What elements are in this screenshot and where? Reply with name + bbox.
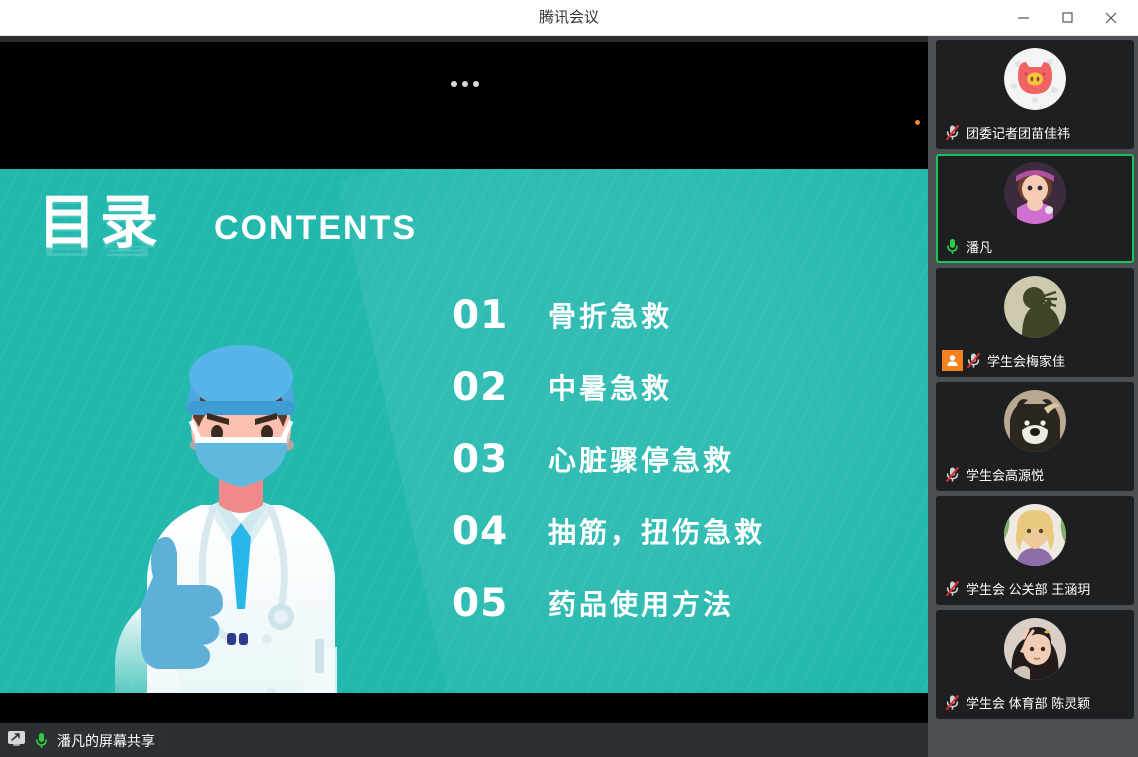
close-icon: [1104, 11, 1118, 25]
toc-item: 04 抽筋，扭伤急救: [452, 495, 765, 567]
window-title-bar: 腾讯会议: [0, 0, 1138, 36]
toc-item-number: 01: [452, 293, 548, 338]
participant-sidebar[interactable]: 团委记者团苗佳祎: [932, 36, 1138, 757]
avatar: [1004, 390, 1066, 452]
close-button[interactable]: [1090, 0, 1132, 35]
shared-screen-content[interactable]: 目录 目录 CONTENTS: [0, 42, 928, 757]
toc-item-number: 03: [452, 437, 548, 482]
participant-tile[interactable]: 学生会 公关部 王涵玥: [936, 496, 1134, 605]
participant-tile-active[interactable]: 潘凡: [936, 154, 1134, 263]
participant-name: 潘凡: [962, 237, 992, 256]
participant-nameplate: 团委记者团苗佳祎: [942, 122, 1077, 143]
minimize-button[interactable]: [1002, 0, 1044, 35]
toc-item-number: 04: [452, 509, 548, 554]
shared-screen-stage: 目录 目录 CONTENTS: [0, 36, 928, 757]
microphone-muted-icon: [942, 464, 962, 485]
slide-heading-en: CONTENTS: [214, 211, 417, 251]
toc-item-label: 心脏骤停急救: [548, 439, 734, 479]
toc-item: 03 心脏骤停急救: [452, 423, 765, 495]
presenter-label-text: 潘凡的屏幕共享: [57, 731, 155, 751]
toc-item: 02 中暑急救: [452, 351, 765, 423]
minimize-icon: [1017, 11, 1030, 24]
avatar: [1004, 504, 1066, 566]
participant-tile[interactable]: 学生会梅家佳: [936, 268, 1134, 377]
toc-item: 01 骨折急救: [452, 279, 765, 351]
participant-tile[interactable]: 学生会高源悦: [936, 382, 1134, 491]
participant-name: 学生会梅家佳: [983, 351, 1065, 370]
microphone-muted-icon: [942, 692, 962, 713]
participant-nameplate: 学生会 公关部 王涵玥: [942, 578, 1097, 599]
toc-item: 05 药品使用方法: [452, 567, 765, 639]
recording-dot-icon: [915, 120, 920, 125]
presenter-label: 潘凡的屏幕共享: [2, 728, 167, 753]
participant-name: 学生会高源悦: [962, 465, 1044, 484]
avatar: [1004, 162, 1066, 224]
toc-item-number: 02: [452, 365, 548, 410]
meeting-window-body: 目录 目录 CONTENTS: [0, 36, 1138, 757]
participant-tile[interactable]: 学生会 体育部 陈灵颖: [936, 610, 1134, 719]
screen-share-icon: [8, 731, 25, 751]
slide-heading-cn: 目录: [38, 193, 162, 251]
presentation-slide: 目录 目录 CONTENTS: [0, 169, 928, 693]
toc-item-label: 中暑急救: [548, 367, 672, 407]
participant-tile[interactable]: 团委记者团苗佳祎: [936, 40, 1134, 149]
participant-name: 团委记者团苗佳祎: [962, 123, 1070, 142]
toc-item-label: 药品使用方法: [548, 583, 734, 623]
doctor-thumbs-up-illustration: [95, 309, 385, 693]
participant-nameplate: 潘凡: [942, 236, 999, 257]
table-of-contents: 01 骨折急救 02 中暑急救 03 心脏骤停急救 04 抽筋，扭伤急救: [452, 279, 765, 639]
toc-item-label: 抽筋，扭伤急救: [548, 511, 765, 551]
participant-nameplate: 学生会 体育部 陈灵颖: [942, 692, 1097, 713]
microphone-on-icon: [31, 730, 51, 751]
maximize-icon: [1061, 11, 1074, 24]
participant-nameplate: 学生会高源悦: [942, 464, 1051, 485]
avatar: [1004, 48, 1066, 110]
host-badge-icon: [942, 350, 963, 371]
participant-name: 学生会 体育部 陈灵颖: [962, 693, 1090, 712]
window-title: 腾讯会议: [0, 0, 1138, 36]
avatar: [1004, 276, 1066, 338]
toc-item-number: 05: [452, 581, 548, 626]
participant-name: 学生会 公关部 王涵玥: [962, 579, 1090, 598]
participant-nameplate: 学生会梅家佳: [942, 350, 1072, 371]
microphone-on-icon: [942, 236, 962, 257]
microphone-muted-icon: [963, 350, 983, 371]
slide-heading: 目录 CONTENTS: [38, 193, 417, 251]
microphone-muted-icon: [942, 122, 962, 143]
toc-item-label: 骨折急救: [548, 295, 672, 335]
maximize-button[interactable]: [1046, 0, 1088, 35]
more-dots-icon[interactable]: [451, 81, 479, 87]
avatar: [1004, 618, 1066, 680]
microphone-muted-icon: [942, 578, 962, 599]
